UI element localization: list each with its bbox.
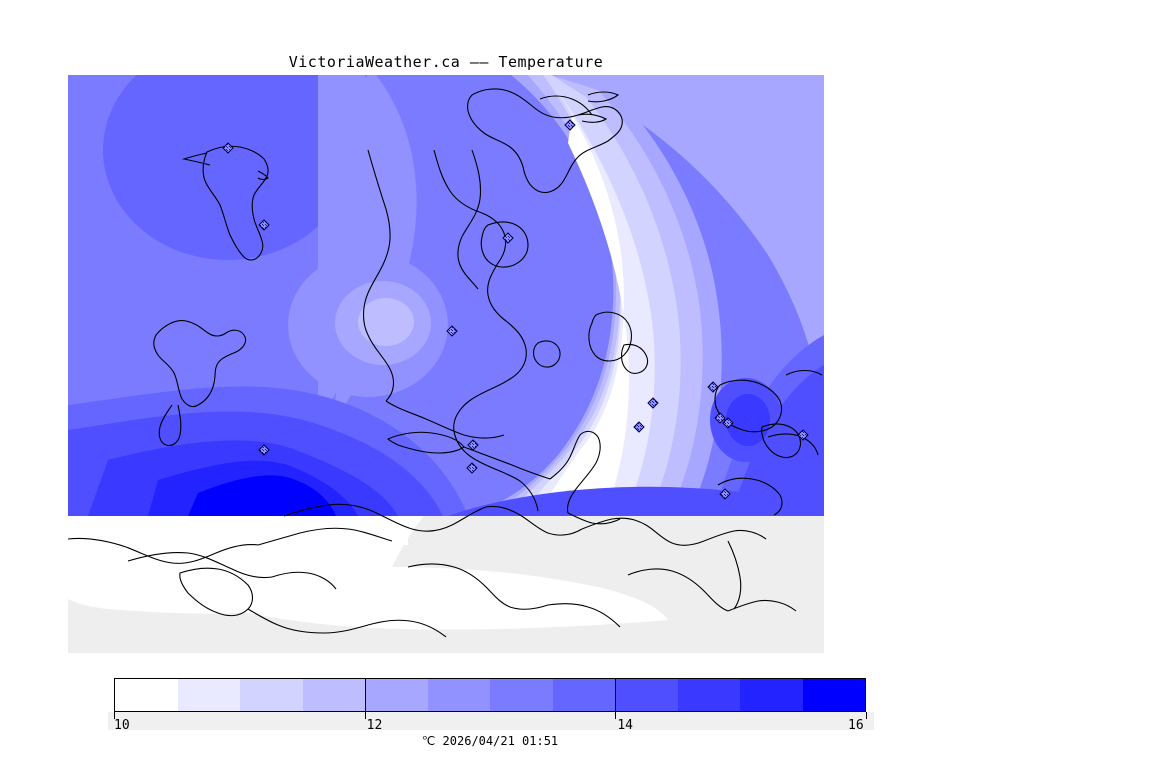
colorbar-divider-1 — [615, 679, 616, 713]
colorbar-band-6 — [490, 679, 553, 711]
temperature-map[interactable] — [68, 75, 824, 653]
colorbar-tick-label-16: 16 — [848, 718, 864, 733]
colorbar-tick-label-10: 10 — [114, 718, 130, 733]
colorbar-band-0 — [115, 679, 178, 711]
colorbar-band-7 — [553, 679, 616, 711]
page-title: VictoriaWeather.ca —— Temperature — [68, 53, 824, 71]
colorbar-label-strip — [108, 712, 874, 730]
colorbar-legend[interactable]: 10121416 ℃ 2026/04/21 01:51 — [114, 678, 866, 734]
colorbar-band-11 — [803, 679, 866, 711]
colorbar-band-9 — [678, 679, 741, 711]
colorbar-tick-label-12: 12 — [367, 718, 383, 733]
colorbar-tick-16 — [866, 712, 867, 719]
colorbar-caption: ℃ 2026/04/21 01:51 — [114, 734, 866, 748]
colorbar-band-8 — [615, 679, 678, 711]
contour-field — [68, 75, 824, 516]
colorbar-tick-14 — [615, 712, 616, 719]
colorbar-tick-12 — [365, 712, 366, 719]
map-canvas[interactable] — [68, 75, 824, 653]
colorbar-band-4 — [365, 679, 428, 711]
colorbar-divider-0 — [365, 679, 366, 713]
colorbar-gradient[interactable] — [114, 678, 866, 712]
colorbar-band-1 — [178, 679, 241, 711]
colorbar-tick-label-14: 14 — [617, 718, 633, 733]
colorbar-band-5 — [428, 679, 491, 711]
colorbar-band-3 — [303, 679, 366, 711]
colorbar-band-10 — [740, 679, 803, 711]
contour-band — [358, 298, 414, 346]
colorbar-band-2 — [240, 679, 303, 711]
